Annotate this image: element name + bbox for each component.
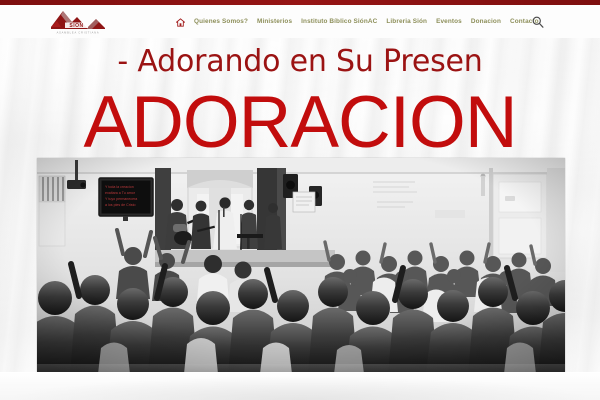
svg-text:ASAMBLEA CRISTIANA: ASAMBLEA CRISTIANA: [57, 31, 100, 35]
hero-big-word: ADORACION: [0, 86, 600, 159]
top-accent-bar: [0, 0, 600, 5]
hero-headline: - Adorando en Su Presen: [0, 46, 600, 78]
hero-photo: Y toda la creacion exaltara a Tu amor Y …: [37, 158, 565, 372]
primary-nav: Quienes Somos? Ministerios Instituto Bíb…: [176, 10, 539, 34]
nav-item-donacion[interactable]: Donacion: [471, 19, 501, 25]
nav-item-libreria-sion[interactable]: Libreria Sión: [386, 19, 427, 25]
nav-item-eventos[interactable]: Eventos: [436, 19, 462, 25]
svg-text:SION: SION: [69, 23, 83, 29]
congregation-photo-illustration: Y toda la creacion exaltara a Tu amor Y …: [37, 158, 565, 372]
logo-mountain-icon: SION ASAMBLEA CRISTIANA: [48, 7, 108, 36]
site-logo[interactable]: SION ASAMBLEA CRISTIANA: [48, 7, 108, 36]
site-header: SION ASAMBLEA CRISTIANA Quienes Somos? M…: [0, 5, 600, 38]
nav-item-instituto-biblico[interactable]: Instituto Bíblico SiónAC: [301, 19, 377, 25]
search-icon: [531, 15, 545, 29]
page-root: SION ASAMBLEA CRISTIANA Quienes Somos? M…: [0, 0, 600, 400]
search-button[interactable]: [531, 15, 545, 29]
nav-item-quienes-somos[interactable]: Quienes Somos?: [194, 19, 248, 25]
nav-home-link[interactable]: [176, 18, 185, 27]
nav-item-ministerios[interactable]: Ministerios: [257, 19, 292, 25]
hero-bottom-wave: [0, 372, 600, 400]
home-icon: [176, 18, 185, 27]
hero-slider: - Adorando en Su Presen ADORACION: [0, 38, 600, 400]
